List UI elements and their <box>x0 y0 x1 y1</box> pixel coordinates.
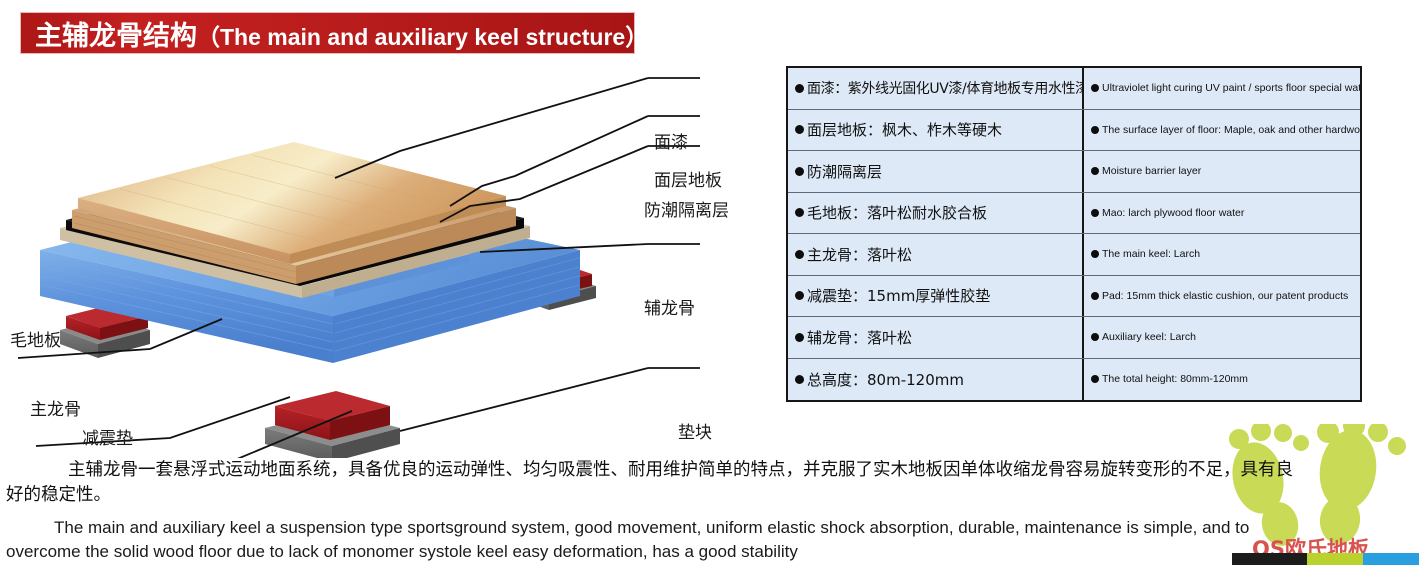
bullet-icon <box>1091 84 1099 92</box>
spec-cell-cn: 总高度：80m-120mm <box>788 359 1084 401</box>
title-text-cn: 主辅龙骨结构 <box>35 21 197 52</box>
spec-text-cn: 面漆：紫外线光固化UV漆/体育地板专用水性漆 <box>807 78 1084 98</box>
page-root: 主辅龙骨结构（The main and auxiliary keel struc… <box>0 0 1419 565</box>
spec-cell-cn: 主龙骨：落叶松 <box>788 234 1084 275</box>
spec-cell-cn: 面层地板：枫木、柞木等硬木 <box>788 110 1084 151</box>
paragraph-en-line1-text: The main and auxiliary keel a suspension… <box>54 518 1249 537</box>
bullet-icon <box>795 291 804 300</box>
spec-text-en: The total height: 80mm-120mm <box>1102 373 1248 385</box>
paragraph-en-line1: The main and auxiliary keel a suspension… <box>0 516 1255 540</box>
callout-label-dianku: 垫块 <box>678 418 712 443</box>
spec-text-en: Ultraviolet light curing UV paint / spor… <box>1102 82 1360 94</box>
callout-label-maodiban: 毛地板 <box>10 326 61 351</box>
bullet-icon <box>1091 167 1099 175</box>
spec-cell-en: The total height: 80mm-120mm <box>1084 359 1360 401</box>
spec-text-cn: 减震垫：15mm厚弹性胶垫 <box>807 285 990 306</box>
table-row: 总高度：80m-120mm The total height: 80mm-120… <box>788 359 1360 401</box>
spec-cell-en: Ultraviolet light curing UV paint / spor… <box>1084 68 1360 109</box>
spec-cell-cn: 防潮隔离层 <box>788 151 1084 192</box>
bottom-color-bar <box>1232 553 1419 565</box>
bullet-icon <box>795 250 804 259</box>
spec-text-en: Moisture barrier layer <box>1102 165 1201 177</box>
table-row: 面漆：紫外线光固化UV漆/体育地板专用水性漆 Ultraviolet light… <box>788 68 1360 110</box>
spec-text-cn: 面层地板：枫木、柞木等硬木 <box>807 119 1002 140</box>
table-row: 毛地板：落叶松耐水胶合板 Mao: larch plywood floor wa… <box>788 193 1360 235</box>
specification-table: 面漆：紫外线光固化UV漆/体育地板专用水性漆 Ultraviolet light… <box>786 66 1362 402</box>
spec-cell-en: Moisture barrier layer <box>1084 151 1360 192</box>
spec-text-en: The main keel: Larch <box>1102 248 1200 260</box>
spec-cell-en: The surface layer of floor: Maple, oak a… <box>1084 110 1360 151</box>
bullet-icon <box>1091 250 1099 258</box>
bullet-icon <box>795 208 804 217</box>
table-row: 防潮隔离层 Moisture barrier layer <box>788 151 1360 193</box>
callout-label-zhulonggu: 主龙骨 <box>30 395 81 420</box>
leader-underlines <box>648 78 700 368</box>
table-row: 面层地板：枫木、柞木等硬木 The surface layer of floor… <box>788 110 1360 152</box>
keel-structure-diagram: 面漆 面层地板 防潮隔离层 辅龙骨 垫块 毛地板 主龙骨 减震垫 <box>0 58 780 458</box>
spec-cell-cn: 面漆：紫外线光固化UV漆/体育地板专用水性漆 <box>788 68 1084 109</box>
spec-text-cn: 毛地板：落叶松耐水胶合板 <box>807 202 987 223</box>
title-banner: 主辅龙骨结构（The main and auxiliary keel struc… <box>20 12 635 54</box>
bullet-icon <box>795 333 804 342</box>
spec-cell-en: The main keel: Larch <box>1084 234 1360 275</box>
color-bar-segment-black <box>1232 553 1307 565</box>
spec-text-en: The surface layer of floor: Maple, oak a… <box>1102 124 1360 136</box>
spec-cell-en: Auxiliary keel: Larch <box>1084 317 1360 358</box>
spec-text-en: Auxiliary keel: Larch <box>1102 331 1196 343</box>
bullet-icon <box>795 375 804 384</box>
spec-text-cn: 辅龙骨：落叶松 <box>807 327 912 348</box>
callout-label-miancengdiban: 面层地板 <box>654 166 722 191</box>
paragraph-cn-line2: 好的稳定性。 <box>0 483 117 508</box>
paragraph-cn-line1: 主辅龙骨一套悬浮式运动地面系统，具备优良的运动弹性、均匀吸震性、耐用维护简单的特… <box>0 458 1299 483</box>
spec-text-cn: 总高度：80m-120mm <box>807 369 964 390</box>
paragraph-cn-line1-text: 主辅龙骨一套悬浮式运动地面系统，具备优良的运动弹性、均匀吸震性、耐用维护简单的特… <box>68 460 1293 480</box>
spec-cell-en: Pad: 15mm thick elastic cushion, our pat… <box>1084 276 1360 317</box>
bullet-icon <box>795 167 804 176</box>
bullet-icon <box>1091 333 1099 341</box>
spec-cell-en: Mao: larch plywood floor water <box>1084 193 1360 234</box>
spec-text-en: Mao: larch plywood floor water <box>1102 207 1244 219</box>
spec-cell-cn: 辅龙骨：落叶松 <box>788 317 1084 358</box>
table-row: 辅龙骨：落叶松 Auxiliary keel: Larch <box>788 317 1360 359</box>
support-stack-front <box>265 391 400 458</box>
spec-cell-cn: 毛地板：落叶松耐水胶合板 <box>788 193 1084 234</box>
callout-label-fangchao: 防潮隔离层 <box>644 196 729 221</box>
spec-text-cn: 主龙骨：落叶松 <box>807 244 912 265</box>
bullet-icon <box>795 84 804 93</box>
bullet-icon <box>1091 126 1099 134</box>
color-bar-segment-green <box>1307 553 1363 565</box>
color-bar-segment-blue <box>1363 553 1419 565</box>
diagram-svg <box>0 58 780 458</box>
spec-text-en: Pad: 15mm thick elastic cushion, our pat… <box>1102 290 1348 302</box>
bullet-icon <box>1091 375 1099 383</box>
paragraph-en-line2: overcome the solid wood floor due to lac… <box>0 540 804 564</box>
table-row: 减震垫：15mm厚弹性胶垫 Pad: 15mm thick elastic cu… <box>788 276 1360 318</box>
bullet-icon <box>795 125 804 134</box>
callout-label-jianzhendian: 减震垫 <box>82 424 133 449</box>
spec-cell-cn: 减震垫：15mm厚弹性胶垫 <box>788 276 1084 317</box>
bullet-icon <box>1091 292 1099 300</box>
title-text: 主辅龙骨结构（The main and auxiliary keel struc… <box>21 14 648 53</box>
callout-label-mianqi: 面漆 <box>654 128 688 153</box>
callout-label-fulonggu: 辅龙骨 <box>644 294 695 319</box>
title-text-en: （The main and auxiliary keel structure） <box>197 24 648 50</box>
bullet-icon <box>1091 209 1099 217</box>
spec-text-cn: 防潮隔离层 <box>807 161 882 182</box>
table-row: 主龙骨：落叶松 The main keel: Larch <box>788 234 1360 276</box>
